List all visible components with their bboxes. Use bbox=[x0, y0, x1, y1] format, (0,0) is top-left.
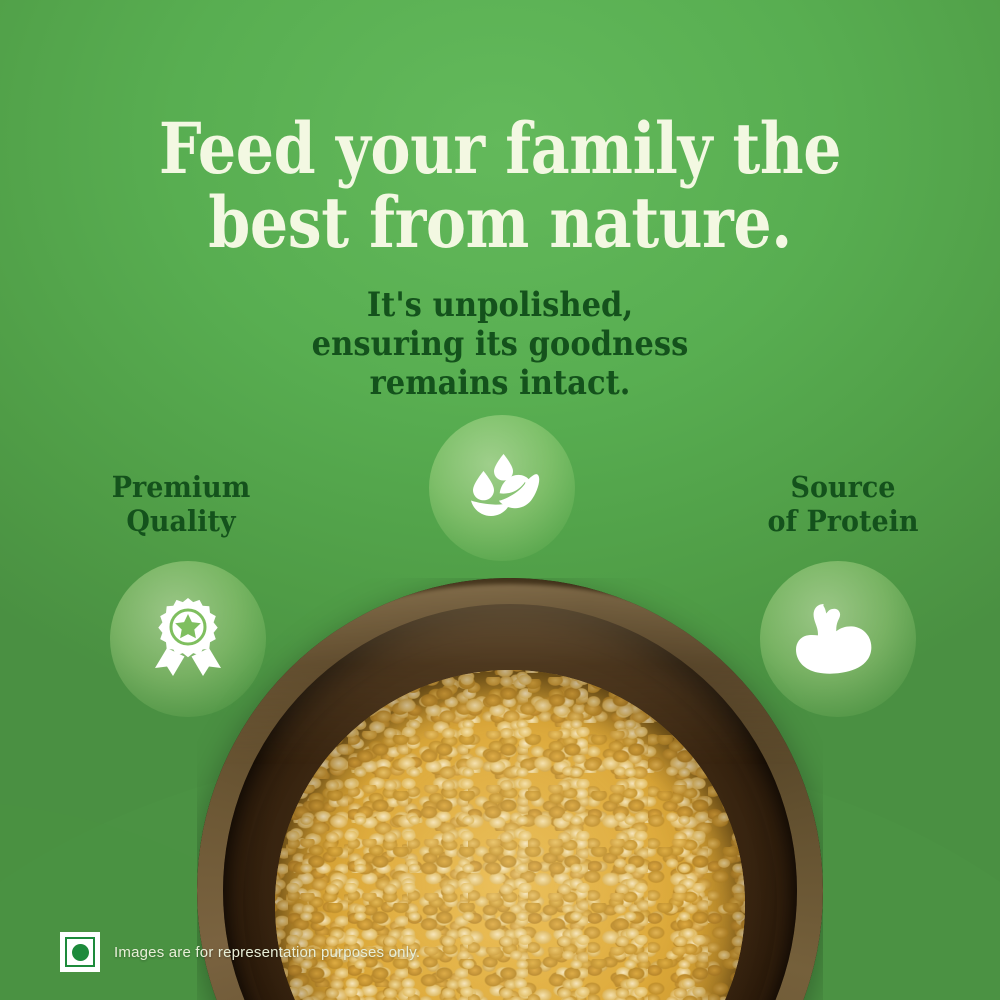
subheadline-line-3: remains intact. bbox=[50, 364, 950, 403]
subheadline-line-2: ensuring its goodness bbox=[50, 325, 950, 364]
footer: Images are for representation purposes o… bbox=[60, 932, 420, 972]
subheadline-line-1: It's unpolished, bbox=[50, 286, 950, 325]
badge-label-line-1: Premium bbox=[74, 470, 288, 504]
badge-label-line-2: Quality bbox=[74, 504, 288, 538]
headline-line-2: best from nature. bbox=[70, 186, 930, 260]
badge-label-source-of-protein: Source of Protein bbox=[727, 470, 960, 538]
badge-label-line-1: Source bbox=[727, 470, 960, 504]
headline-line-1: Feed your family the bbox=[70, 112, 930, 186]
badge-label-premium-quality: Premium Quality bbox=[74, 470, 288, 538]
promotional-poster: Feed your family the best from nature. I… bbox=[0, 0, 1000, 1000]
disclaimer-text: Images are for representation purposes o… bbox=[114, 944, 420, 961]
vegetarian-mark-border bbox=[65, 937, 95, 967]
subheadline: It's unpolished, ensuring its goodness r… bbox=[50, 286, 950, 403]
badge-label-line-2: of Protein bbox=[727, 504, 960, 538]
page-title: Feed your family the best from nature. bbox=[70, 112, 930, 260]
vegetarian-mark-icon bbox=[60, 932, 100, 972]
vegetarian-mark-dot bbox=[72, 944, 89, 961]
leaf-water-drop-icon bbox=[463, 451, 541, 525]
badge-natural-purity bbox=[429, 415, 575, 561]
